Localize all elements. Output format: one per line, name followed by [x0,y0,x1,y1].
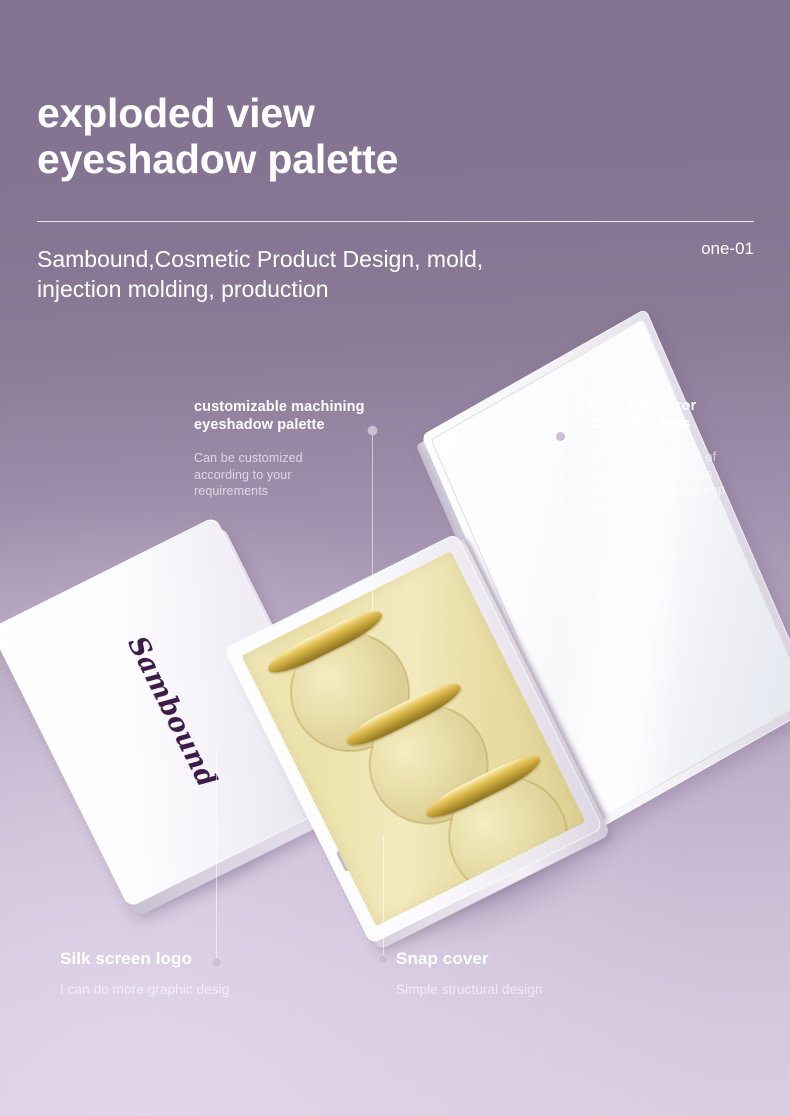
leader-line-mirror [560,440,561,512]
callout-title: Snap cover [396,948,696,969]
page-title: exploded view eyeshadow palette [37,90,597,182]
callout-dot-snap-cover [379,955,388,964]
header-divider [37,221,754,222]
silk-screen-logo: Sambound [121,631,222,792]
leader-line-silk-screen [216,745,217,959]
callout-dot-mirror [556,432,565,441]
callout-title: customizable machining eyeshadow palette [194,398,409,434]
callout-description: Simple structural design [396,981,696,999]
callout-description: I can do more graphic desig [60,981,360,999]
leader-line-snap-cover [383,836,384,956]
infographic-page: Sambound [0,0,790,1116]
callout-snap-cover: Snap cover Simple structural design [396,948,696,999]
callout-silk-screen: Silk screen logo I can do more graphic d… [60,948,360,999]
callout-mirror: Ultra HD mirror Colorless lens Flip type… [590,397,770,515]
callout-customizable: customizable machining eyeshadow palette… [194,398,409,500]
callout-description: Can be customized according to your requ… [194,450,409,500]
page-subtitle: Sambound,Cosmetic Product Design, mold, … [37,244,637,304]
callout-description: Flip type installation of high-definitio… [590,449,770,515]
page-code: one-01 [701,239,754,259]
callout-title: Ultra HD mirror Colorless lens [590,397,770,433]
callout-title: Silk screen logo [60,948,360,969]
